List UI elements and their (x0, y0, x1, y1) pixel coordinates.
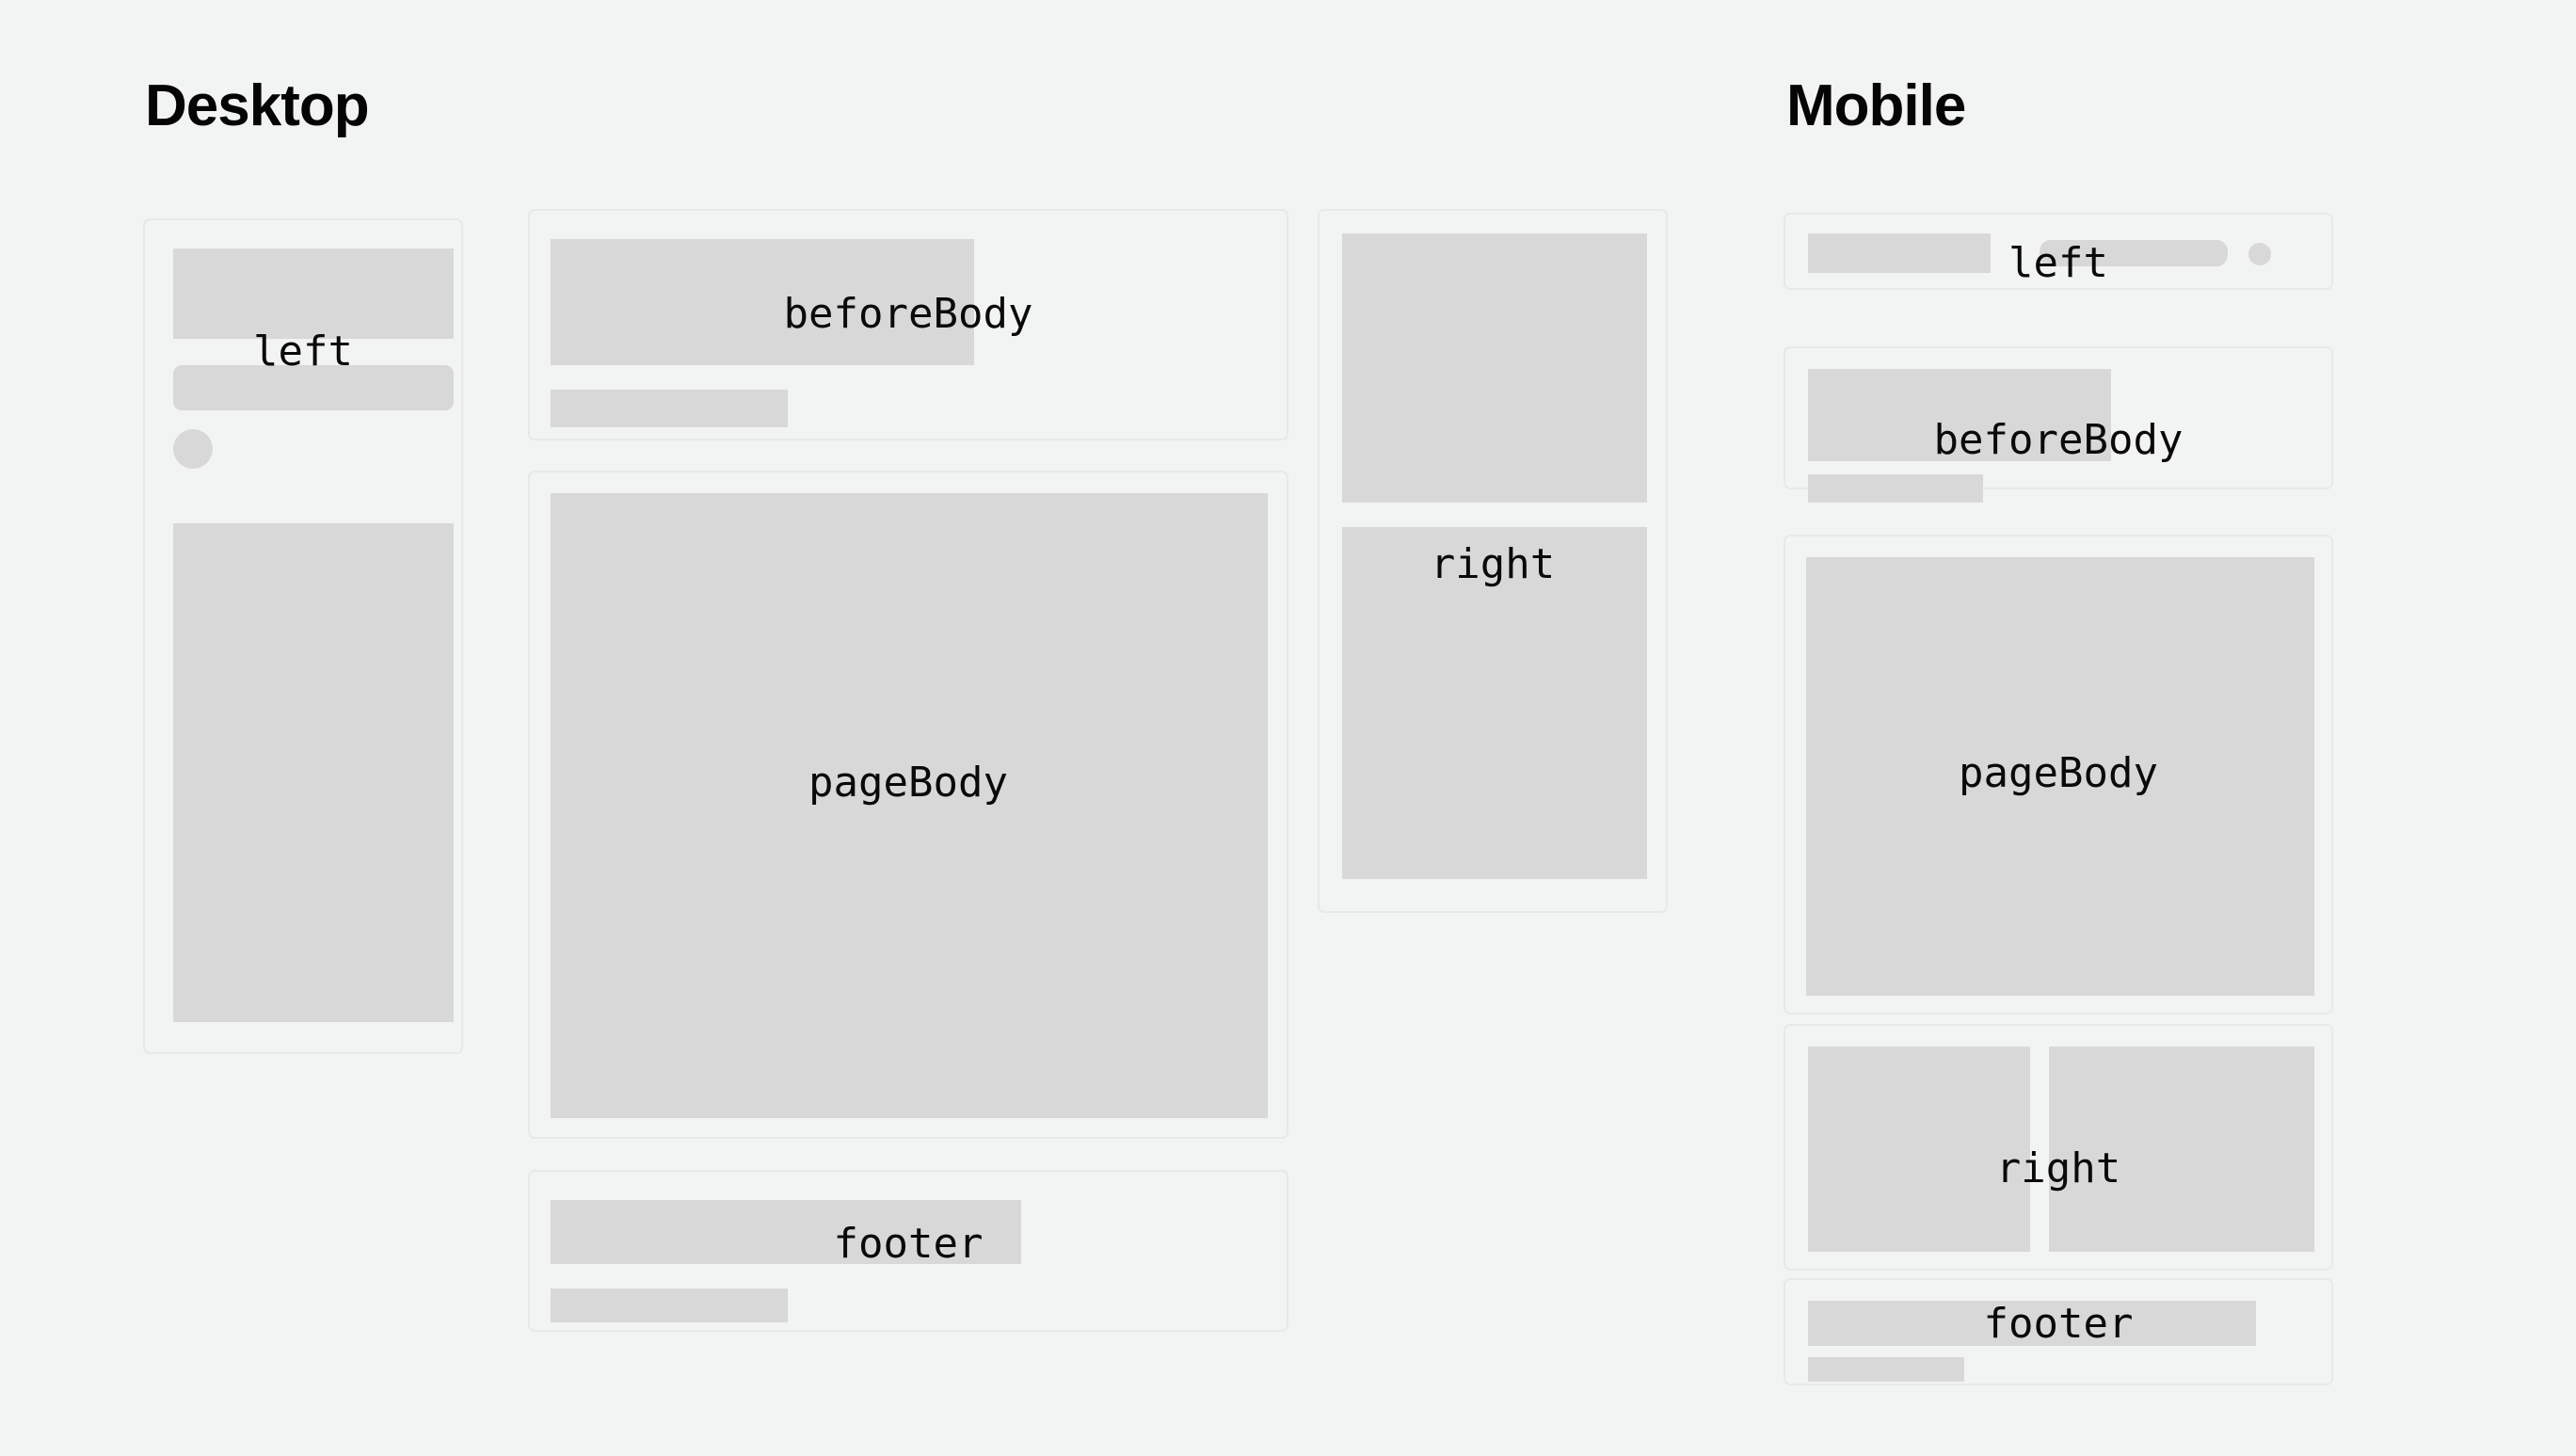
skeleton-block (551, 493, 1268, 1118)
skeleton-block (1808, 233, 1991, 273)
skeleton-avatar-circle (2248, 243, 2271, 265)
skeleton-bar (551, 1288, 788, 1322)
skeleton-block (1342, 527, 1647, 879)
skeleton-block (173, 248, 454, 339)
mobile-right-panel[interactable] (1784, 1024, 2333, 1271)
skeleton-bar (1808, 1357, 1964, 1382)
skeleton-block (1808, 1047, 2030, 1252)
skeleton-block (1806, 557, 2314, 996)
skeleton-block (551, 239, 974, 365)
skeleton-bar (1808, 474, 1983, 503)
layout-preview-stage: Desktop Mobile left beforeBody pageBody … (0, 0, 2576, 1456)
skeleton-avatar-circle (173, 429, 213, 469)
skeleton-bar (2040, 240, 2228, 266)
skeleton-block (551, 1200, 1021, 1264)
desktop-right-rail-panel[interactable] (1318, 209, 1668, 913)
desktop-before-body-panel[interactable] (528, 209, 1288, 440)
desktop-page-body-panel[interactable] (528, 471, 1288, 1139)
mobile-footer-panel[interactable] (1784, 1278, 2333, 1385)
desktop-section-title: Desktop (145, 77, 369, 136)
mobile-before-body-panel[interactable] (1784, 346, 2333, 489)
mobile-page-body-panel[interactable] (1784, 535, 2333, 1015)
skeleton-block (1342, 233, 1647, 503)
skeleton-block (1808, 1301, 2256, 1346)
skeleton-block (1808, 369, 2111, 461)
mobile-section-title: Mobile (1786, 77, 1965, 136)
skeleton-block (2049, 1047, 2314, 1252)
desktop-footer-panel[interactable] (528, 1170, 1288, 1332)
skeleton-bar (173, 365, 454, 410)
desktop-left-sidebar-panel[interactable] (143, 218, 463, 1054)
mobile-left-panel[interactable] (1784, 213, 2333, 290)
skeleton-bar (551, 390, 788, 427)
skeleton-block (173, 523, 454, 1022)
